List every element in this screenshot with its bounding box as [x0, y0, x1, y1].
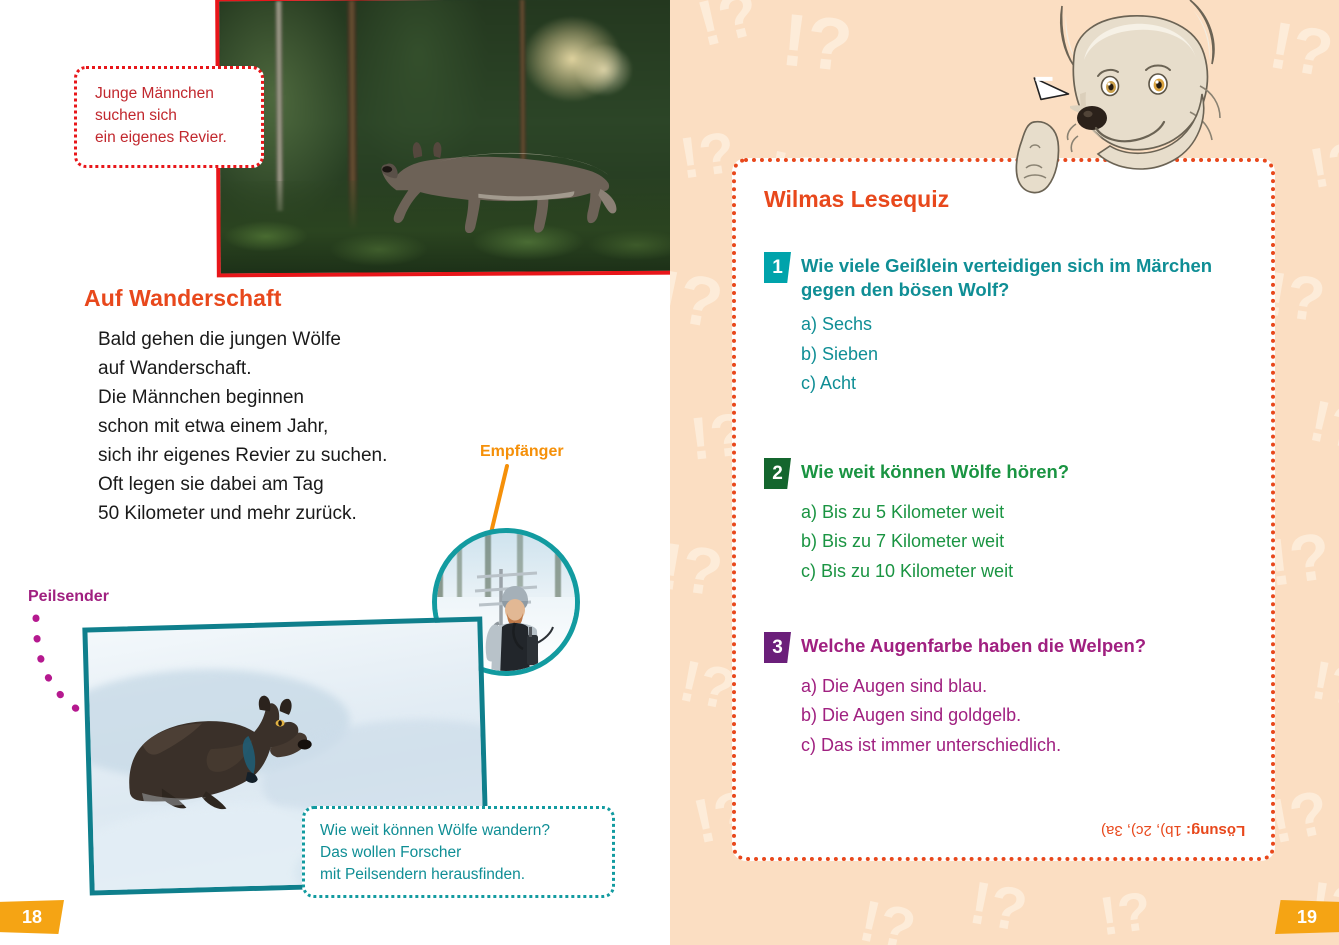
callout-teal-line: mit Peilsendern herausfinden. [320, 864, 598, 886]
wolf-paw-icon [1012, 118, 1070, 196]
answer-option[interactable]: a) Die Augen sind blau. [801, 672, 1264, 701]
question-exclamation-mark: !? [966, 875, 1031, 938]
question-text: Wie viele Geißlein verteidigen sich im M… [801, 252, 1264, 301]
body-line: Bald gehen die jungen Wölfe [98, 325, 518, 354]
body-line: Die Männchen beginnen [98, 383, 518, 412]
quiz-box: Wilmas Lesequiz 1 Wie viele Geißlein ver… [732, 158, 1275, 861]
callout-red: Junge Männchen suchen sich ein eigenes R… [74, 66, 264, 168]
question-exclamation-mark: !? [1308, 656, 1339, 713]
question-exclamation-mark: !? [677, 126, 738, 185]
solution-answers: 1b), 2c), 3a) [1101, 822, 1182, 839]
page-number-left: 18 [0, 900, 64, 934]
quiz-question-1: 1 Wie viele Geißlein verteidigen sich im… [764, 252, 1264, 398]
photo-wolf-forest [215, 0, 677, 277]
answer-option[interactable]: c) Acht [801, 369, 1264, 398]
question-exclamation-mark: !? [675, 655, 739, 717]
body-line: auf Wanderschaft. [98, 354, 518, 383]
answer-option[interactable]: b) Sieben [801, 340, 1264, 369]
answer-option[interactable]: c) Das ist immer unterschiedlich. [801, 731, 1264, 760]
callout-red-line: suchen sich [95, 105, 247, 127]
question-number-badge: 1 [764, 252, 791, 283]
question-number-badge: 3 [764, 632, 791, 663]
solution-label: Lösung: [1186, 822, 1245, 839]
callout-teal-line: Wie weit können Wölfe wandern? [320, 820, 598, 842]
question-exclamation-mark: !? [692, 0, 765, 54]
quiz-question-3: 3 Welche Augenfarbe haben die Welpen? a)… [764, 632, 1264, 760]
question-exclamation-mark: !? [1305, 395, 1339, 457]
question-exclamation-mark: !? [670, 263, 727, 337]
wolf-mascot-illustration [1040, 0, 1240, 179]
callout-teal-line: Das wollen Forscher [320, 842, 598, 864]
label-empfaenger: Empfänger [480, 443, 564, 461]
researcher-figure [471, 561, 557, 676]
body-line: schon mit etwa einem Jahr, [98, 412, 518, 441]
answer-option[interactable]: a) Sechs [801, 310, 1264, 339]
quiz-solution: Lösung: 1b), 2c), 3a) [1101, 822, 1245, 839]
left-page: Junge Männchen suchen sich ein eigenes R… [0, 0, 670, 945]
question-text: Wie weit können Wölfe hören? [801, 458, 1069, 484]
question-exclamation-mark: !? [1265, 785, 1334, 852]
callout-red-line: ein eigenes Revier. [95, 127, 247, 149]
question-number-badge: 2 [764, 458, 791, 489]
question-exclamation-mark: !? [670, 536, 726, 603]
question-exclamation-mark: !? [1097, 887, 1154, 942]
quiz-question-2: 2 Wie weit können Wölfe hören? a) Bis zu… [764, 458, 1264, 586]
question-exclamation-mark: !? [855, 895, 919, 945]
answer-option[interactable]: b) Die Augen sind goldgelb. [801, 701, 1264, 730]
section-heading: Auf Wanderschaft [84, 285, 282, 312]
answer-option[interactable]: a) Bis zu 5 Kilometer weit [801, 498, 1264, 527]
answer-option[interactable]: b) Bis zu 7 Kilometer weit [801, 527, 1264, 556]
callout-teal: Wie weit können Wölfe wandern? Das wolle… [302, 806, 615, 898]
collared-wolf-subject [119, 684, 323, 830]
callout-red-line: Junge Männchen [95, 83, 247, 105]
question-exclamation-mark: !? [1306, 136, 1339, 195]
question-exclamation-mark: !? [779, 7, 855, 81]
question-exclamation-mark: !? [1265, 15, 1337, 84]
wolf-photo-subject [378, 127, 619, 240]
answer-option[interactable]: c) Bis zu 10 Kilometer weit [801, 557, 1264, 586]
tree-trunk [275, 1, 283, 211]
question-text: Welche Augenfarbe haben die Welpen? [801, 632, 1146, 658]
quiz-title: Wilmas Lesequiz [764, 186, 949, 213]
page-number-right: 19 [1275, 900, 1339, 934]
